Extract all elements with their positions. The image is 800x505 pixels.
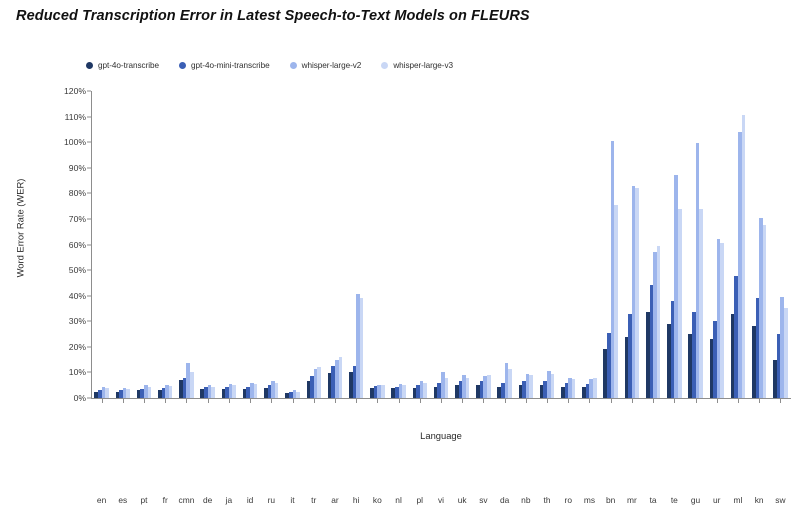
y-tick-mark xyxy=(87,167,91,168)
y-tick-mark xyxy=(87,372,91,373)
bar[interactable] xyxy=(551,374,555,398)
bar-group xyxy=(413,381,427,398)
y-tick-mark xyxy=(87,193,91,194)
x-axis-tick-label: ja xyxy=(226,495,233,505)
x-tick-mark xyxy=(759,399,760,403)
bar[interactable] xyxy=(635,188,639,398)
bar-group xyxy=(200,385,214,398)
bar-group xyxy=(116,388,130,398)
bar[interactable] xyxy=(275,383,279,398)
bar-group xyxy=(94,387,108,398)
y-axis-line xyxy=(91,91,92,399)
x-axis-tick-label: tr xyxy=(311,495,316,505)
x-axis-tick-label: sv xyxy=(479,495,487,505)
x-axis-tick-label: cmn xyxy=(179,495,195,505)
legend-swatch-icon xyxy=(86,62,93,69)
legend-label: whisper-large-v3 xyxy=(393,61,453,70)
x-tick-mark xyxy=(250,399,251,403)
x-axis-tick-label: ko xyxy=(373,495,382,505)
y-tick-mark xyxy=(87,116,91,117)
x-axis-tick-label: hi xyxy=(353,495,360,505)
x-axis-tick-label: sw xyxy=(775,495,785,505)
x-tick-mark xyxy=(717,399,718,403)
bar[interactable] xyxy=(678,209,682,398)
x-tick-mark xyxy=(611,399,612,403)
x-axis-tick-label: th xyxy=(544,495,551,505)
bar[interactable] xyxy=(339,357,343,398)
y-tick-mark xyxy=(87,142,91,143)
bar-group xyxy=(391,384,405,398)
bar-group xyxy=(625,186,639,398)
x-tick-mark xyxy=(335,399,336,403)
bar[interactable] xyxy=(763,225,767,398)
x-tick-mark xyxy=(738,399,739,403)
legend-label: gpt-4o-mini-transcribe xyxy=(191,61,270,70)
x-axis-tick-label: ml xyxy=(734,495,743,505)
bar-group xyxy=(603,141,617,398)
y-tick-mark xyxy=(87,321,91,322)
chart-page: Reduced Transcription Error in Latest Sp… xyxy=(0,0,800,456)
x-axis-tick-label: da xyxy=(500,495,509,505)
bar[interactable] xyxy=(190,372,194,398)
bar-group xyxy=(349,294,363,398)
bar-group xyxy=(307,367,321,398)
x-tick-mark xyxy=(165,399,166,403)
y-tick-mark xyxy=(87,244,91,245)
bar[interactable] xyxy=(211,387,215,399)
x-axis-tick-label: it xyxy=(290,495,294,505)
bar[interactable] xyxy=(126,389,130,398)
x-axis-tick-label: fr xyxy=(163,495,168,505)
bar[interactable] xyxy=(466,378,470,398)
x-axis-tick-label: ur xyxy=(713,495,720,505)
x-axis-tick-label: nl xyxy=(395,495,402,505)
x-axis-tick-label: es xyxy=(118,495,127,505)
x-tick-mark xyxy=(229,399,230,403)
x-axis-tick-label: ru xyxy=(268,495,275,505)
bar[interactable] xyxy=(232,385,236,398)
x-axis-tick-label: id xyxy=(247,495,254,505)
bar-group xyxy=(455,375,469,398)
x-tick-mark xyxy=(568,399,569,403)
x-tick-mark xyxy=(377,399,378,403)
bar[interactable] xyxy=(254,384,258,398)
x-axis-tick-label: ro xyxy=(565,495,572,505)
bar-group xyxy=(731,115,745,398)
bar-group xyxy=(519,374,533,398)
legend-label: gpt-4o-transcribe xyxy=(98,61,159,70)
bar-group xyxy=(540,371,554,398)
x-axis-tick-label: kn xyxy=(755,495,764,505)
y-tick-mark xyxy=(87,346,91,347)
x-tick-mark xyxy=(589,399,590,403)
y-tick-mark xyxy=(87,270,91,271)
legend-item[interactable]: gpt-4o-transcribe xyxy=(86,61,159,70)
bar-group xyxy=(328,357,342,398)
chart-legend: gpt-4o-transcribegpt-4o-mini-transcribew… xyxy=(86,61,453,70)
x-tick-mark xyxy=(441,399,442,403)
bar[interactable] xyxy=(487,375,491,398)
x-axis-tick-label: ar xyxy=(331,495,338,505)
x-tick-mark xyxy=(505,399,506,403)
bar-group xyxy=(222,384,236,398)
bar[interactable] xyxy=(423,383,427,398)
legend-swatch-icon xyxy=(290,62,297,69)
x-axis-tick-label: de xyxy=(203,495,212,505)
x-tick-mark xyxy=(547,399,548,403)
bar[interactable] xyxy=(529,375,533,398)
bar[interactable] xyxy=(105,388,109,398)
x-tick-mark xyxy=(674,399,675,403)
x-tick-mark xyxy=(399,399,400,403)
y-tick-mark xyxy=(87,295,91,296)
bar[interactable] xyxy=(317,367,321,398)
bar[interactable] xyxy=(614,205,618,398)
bar-group xyxy=(773,297,787,398)
bar-group xyxy=(667,175,681,398)
bar-group xyxy=(688,143,702,398)
x-tick-mark xyxy=(123,399,124,403)
bar-group xyxy=(370,385,384,398)
x-tick-mark xyxy=(144,399,145,403)
y-axis-title: Word Error Rate (WER) xyxy=(15,179,26,278)
x-tick-mark xyxy=(483,399,484,403)
y-tick-mark xyxy=(87,398,91,399)
bar[interactable] xyxy=(593,378,597,398)
bar[interactable] xyxy=(148,387,152,399)
x-tick-mark xyxy=(186,399,187,403)
bar-group xyxy=(497,363,511,398)
bar[interactable] xyxy=(360,298,364,398)
bar[interactable] xyxy=(699,209,703,398)
x-tick-mark xyxy=(293,399,294,403)
bar[interactable] xyxy=(742,115,746,398)
bar[interactable] xyxy=(296,392,300,398)
bar[interactable] xyxy=(784,308,788,398)
x-tick-mark xyxy=(102,399,103,403)
bar-group xyxy=(285,390,299,398)
x-axis-tick-label: vi xyxy=(438,495,444,505)
x-axis-tick-label: ms xyxy=(584,495,595,505)
legend-item[interactable]: gpt-4o-mini-transcribe xyxy=(179,61,270,70)
x-tick-mark xyxy=(632,399,633,403)
x-axis-tick-label: mr xyxy=(627,495,637,505)
y-tick-mark xyxy=(87,91,91,92)
bar-group xyxy=(710,239,724,398)
plot-area: 0%10%20%30%40%50%60%70%80%90%100%110%120… xyxy=(91,91,791,399)
x-axis-tick-label: gu xyxy=(691,495,700,505)
x-tick-mark xyxy=(780,399,781,403)
legend-label: whisper-large-v2 xyxy=(302,61,362,70)
bar[interactable] xyxy=(508,369,512,398)
x-axis-tick-label: uk xyxy=(458,495,467,505)
x-tick-mark xyxy=(314,399,315,403)
bar-group xyxy=(434,372,448,398)
x-tick-mark xyxy=(208,399,209,403)
legend-item[interactable]: whisper-large-v3 xyxy=(381,61,453,70)
bar[interactable] xyxy=(572,379,576,398)
bar[interactable] xyxy=(445,378,449,398)
bar[interactable] xyxy=(720,243,724,398)
bar[interactable] xyxy=(402,385,406,398)
bar-group xyxy=(582,378,596,398)
x-axis-tick-label: ta xyxy=(650,495,657,505)
x-axis-tick-label: bn xyxy=(606,495,615,505)
bar-group xyxy=(646,246,660,398)
x-axis-tick-label: pt xyxy=(141,495,148,505)
x-tick-mark xyxy=(526,399,527,403)
legend-swatch-icon xyxy=(179,62,186,69)
bar[interactable] xyxy=(657,246,661,398)
x-axis-tick-label: pl xyxy=(417,495,424,505)
x-tick-mark xyxy=(356,399,357,403)
x-axis-tick-label: te xyxy=(671,495,678,505)
legend-item[interactable]: whisper-large-v2 xyxy=(290,61,362,70)
bar-group xyxy=(137,385,151,398)
x-tick-mark xyxy=(696,399,697,403)
y-tick-mark xyxy=(87,218,91,219)
bar-group xyxy=(158,385,172,398)
page-title: Reduced Transcription Error in Latest Sp… xyxy=(16,8,530,24)
bar-group xyxy=(243,383,257,398)
legend-swatch-icon xyxy=(381,62,388,69)
x-axis-tick-label: en xyxy=(97,495,106,505)
bar-group xyxy=(752,218,766,398)
x-axis-title: Language xyxy=(420,430,462,441)
x-tick-mark xyxy=(653,399,654,403)
bar-group xyxy=(264,381,278,398)
x-tick-mark xyxy=(462,399,463,403)
bar-group xyxy=(476,375,490,398)
x-tick-mark xyxy=(420,399,421,403)
x-axis-tick-label: nb xyxy=(521,495,530,505)
x-tick-mark xyxy=(271,399,272,403)
bar-group xyxy=(561,378,575,398)
bar[interactable] xyxy=(381,385,385,398)
bar[interactable] xyxy=(169,386,173,398)
bar-group xyxy=(179,363,193,398)
